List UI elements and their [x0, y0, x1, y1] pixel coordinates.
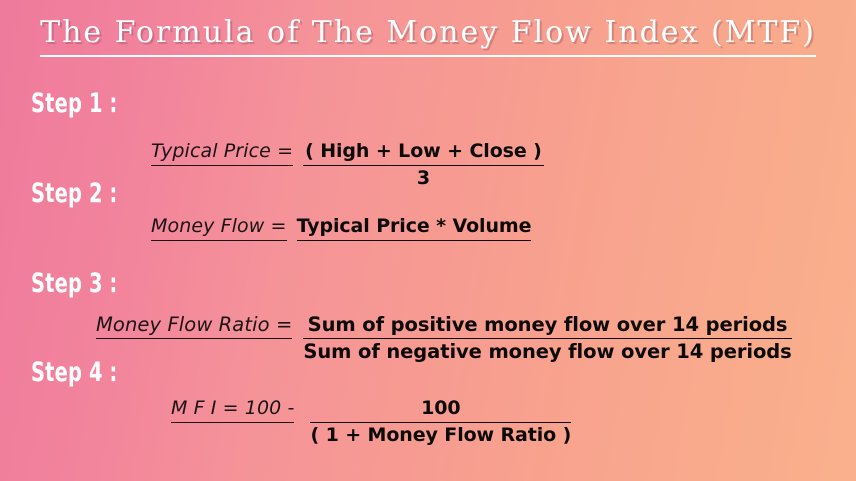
- fraction-typical-price: ( High + Low + Close ) 3: [303, 141, 544, 190]
- slide-canvas: The Formula of The Money Flow Index (MTF…: [0, 0, 856, 481]
- fraction-numerator: 100: [310, 398, 571, 423]
- formula-row-step-3: Money Flow Ratio = Sum of positive money…: [96, 314, 792, 364]
- fraction-denominator: 3: [303, 166, 544, 190]
- fraction-mfi: 100 ( 1 + Money Flow Ratio ): [310, 398, 571, 447]
- fraction-numerator: Sum of positive money flow over 14 perio…: [303, 314, 791, 339]
- page-title: The Formula of The Money Flow Index (MTF…: [40, 16, 816, 57]
- fraction-numerator: ( High + Low + Close ): [303, 141, 544, 166]
- formula-lhs-typical-price: Typical Price =: [151, 141, 293, 166]
- fraction-denominator: Sum of negative money flow over 14 perio…: [303, 339, 791, 363]
- formula-lhs-mfi: M F I = 100 -: [171, 398, 294, 423]
- formula-rhs-money-flow: Typical Price * Volume: [297, 216, 532, 241]
- step-label-2: Step 2 :: [31, 178, 117, 209]
- step-label-1: Step 1 :: [31, 88, 117, 119]
- formula-row-step-4: M F I = 100 - 100 ( 1 + Money Flow Ratio…: [171, 398, 571, 447]
- fraction-denominator: ( 1 + Money Flow Ratio ): [310, 423, 571, 447]
- step-label-3: Step 3 :: [31, 268, 117, 299]
- formula-row-step-2: Money Flow = Typical Price * Volume: [151, 216, 531, 241]
- title-block: The Formula of The Money Flow Index (MTF…: [0, 16, 856, 57]
- formula-lhs-money-flow: Money Flow =: [151, 216, 287, 241]
- formula-row-step-1: Typical Price = ( High + Low + Close ) 3: [151, 141, 544, 190]
- formula-lhs-money-flow-ratio: Money Flow Ratio =: [96, 314, 292, 339]
- fraction-money-flow-ratio: Sum of positive money flow over 14 perio…: [303, 314, 791, 364]
